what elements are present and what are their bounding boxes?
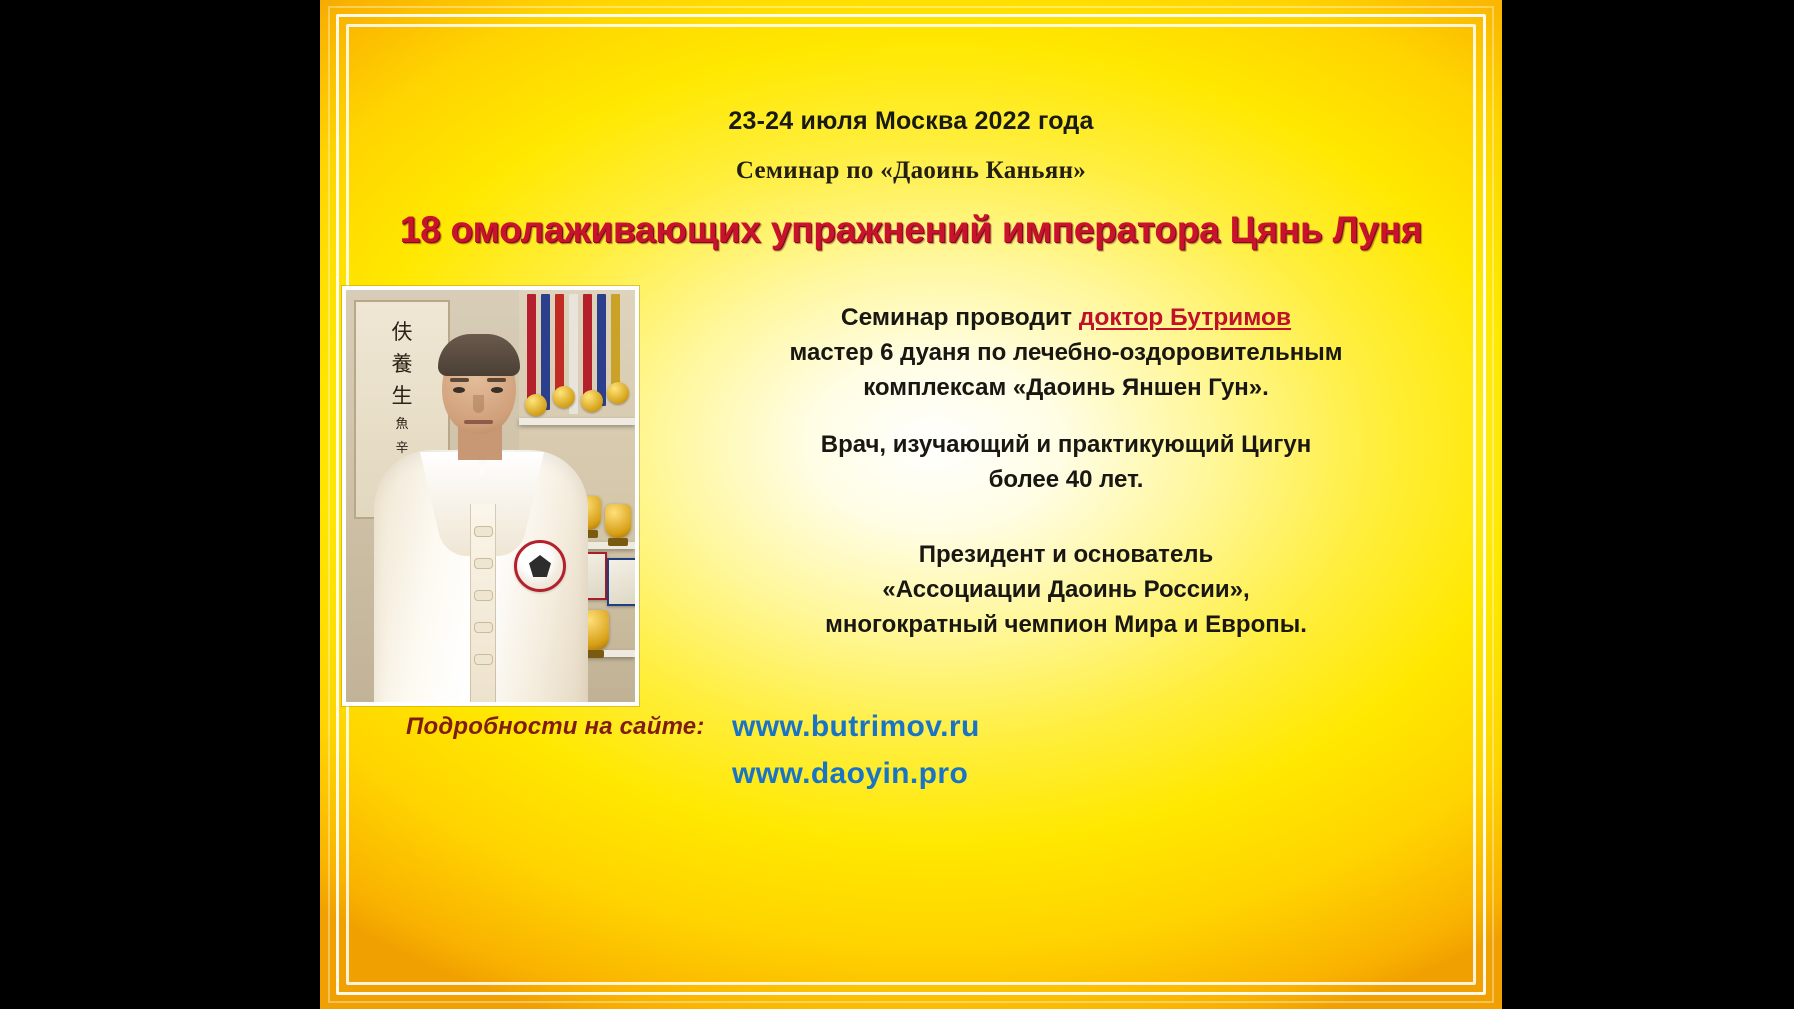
robe-knot [474, 590, 493, 601]
seminar-led-by-label: Семинар проводит [841, 304, 1079, 331]
robe-knot [474, 526, 493, 537]
seminar-subtitle: Семинар по «Даоинь Каньян» [320, 157, 1502, 185]
poster-slide: 23-24 июля Москва 2022 года Семинар по «… [320, 0, 1502, 1009]
paragraph-spacer [650, 497, 1482, 537]
poster-content: 23-24 июля Москва 2022 года Семинар по «… [320, 0, 1502, 1009]
robe-knot [474, 622, 493, 633]
presenter-hair [438, 334, 520, 376]
description-paragraph-1: Семинар проводит доктор Бутримов мастер … [650, 300, 1482, 405]
description-line: Семинар проводит доктор Бутримов [650, 300, 1482, 335]
letterbox-pillar-left [0, 0, 320, 1009]
presenter-eye-right [491, 387, 503, 393]
presenter-description: Семинар проводит доктор Бутримов мастер … [650, 300, 1482, 642]
website-link-daoyin[interactable]: www.daoyin.pro [732, 757, 968, 791]
presenter-eyebrow-left [450, 378, 469, 382]
letterbox-pillar-right [1502, 0, 1794, 1009]
presenter-name: доктор Бутримов [1079, 304, 1291, 331]
description-line: мастер 6 дуаня по лечебно-оздоровительны… [650, 335, 1482, 370]
presenter-photo-image: 伕 養 生 魚 辛 裁 [346, 290, 635, 702]
presenter-mouth [464, 420, 493, 424]
event-date-line: 23-24 июля Москва 2022 года [320, 107, 1502, 136]
presenter-nose [473, 395, 484, 413]
association-emblem [514, 540, 566, 592]
robe-knot [474, 654, 493, 665]
details-label: Подробности на сайте: [406, 713, 705, 741]
description-line: «Ассоциации Даоинь России», [650, 572, 1482, 607]
paragraph-spacer [650, 405, 1482, 427]
main-headline: 18 омолаживающих упражнений императора Ц… [320, 209, 1502, 251]
robe-knot [474, 558, 493, 569]
description-line: Президент и основатель [650, 537, 1482, 572]
description-line: Врач, изучающий и практикующий Цигун [650, 427, 1482, 462]
description-paragraph-3: Президент и основатель «Ассоциации Даоин… [650, 537, 1482, 642]
emblem-shape-icon [529, 555, 551, 577]
description-line: комплексам «Даоинь Яншен Гун». [650, 370, 1482, 405]
presenter-eyebrow-right [487, 378, 506, 382]
description-line: многократный чемпион Мира и Европы. [650, 607, 1482, 642]
presenter-photo: 伕 養 生 魚 辛 裁 [342, 286, 639, 706]
description-line: более 40 лет. [650, 462, 1482, 497]
description-paragraph-2: Врач, изучающий и практикующий Цигун бол… [650, 427, 1482, 497]
website-link-butrimov[interactable]: www.butrimov.ru [732, 710, 980, 744]
presenter-figure [346, 290, 635, 702]
poster-root: 23-24 июля Москва 2022 года Семинар по «… [0, 0, 1794, 1009]
presenter-eye-left [453, 387, 465, 393]
